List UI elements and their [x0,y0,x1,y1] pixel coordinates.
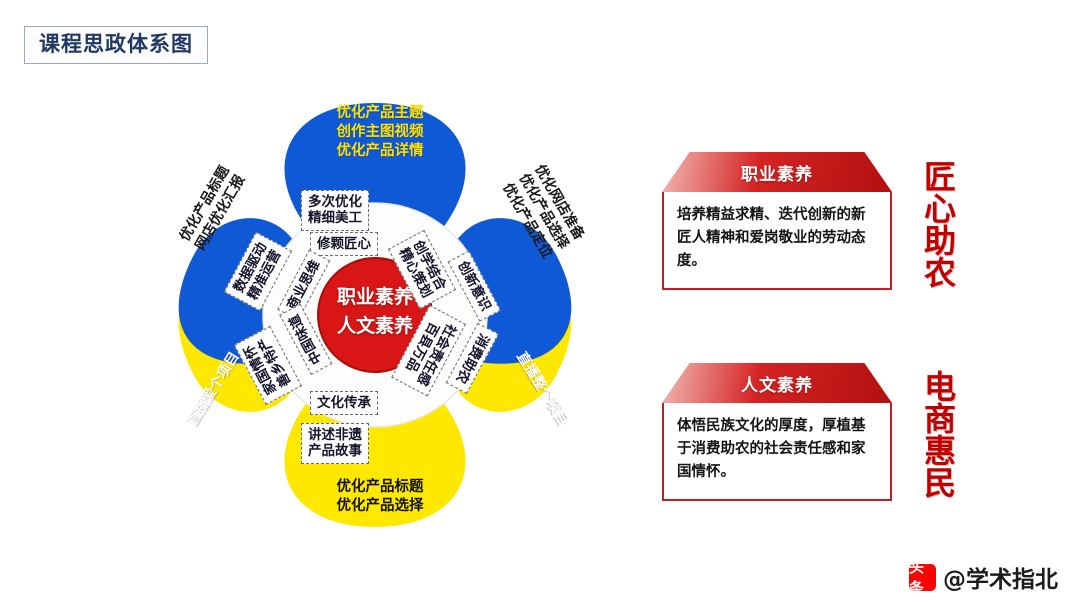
chip-bottom-b: 讲述非遗产品故事 [301,423,369,464]
card-professional-literacy: 职业素养 培养精益求精、迭代创新的新匠人精神和爱岗敬业的劳动态度。 [662,152,892,290]
slide-canvas: 课程思政体系图 [0,0,1080,608]
card-2-heading: 人文素养 [662,363,892,403]
toutiao-logo-icon: 头条 [909,564,936,591]
page-title: 课程思政体系图 [24,26,208,64]
chip-top-b: 修颗匠心 [310,232,378,256]
card-1-body: 培养精益求精、迭代创新的新匠人精神和爱岗敬业的劳动态度。 [662,192,892,290]
flower-petals-svg [120,80,630,550]
vertical-tag-craftsmanship: 匠心助农 [910,160,956,288]
course-system-flower-diagram: 优化产品主题 创作主图视频 优化产品详情 优化产品标题 网店优化汇报 优化网店准… [120,80,630,550]
watermark-text: @学术指北 [943,560,1058,594]
card-2-body: 体悟民族文化的厚度，厚植基于消费助农的社会责任感和家国情怀。 [662,403,892,501]
chip-bottom-a: 文化传承 [310,391,378,415]
watermark: 头条 @学术指北 [909,560,1058,594]
vertical-tag-ecommerce: 电商惠民 [910,370,956,498]
card-1-heading: 职业素养 [662,152,892,192]
card-humanistic-literacy: 人文素养 体悟民族文化的厚度，厚植基于消费助农的社会责任感和家国情怀。 [662,363,892,501]
chip-top-a: 多次优化精细美工 [301,190,369,231]
